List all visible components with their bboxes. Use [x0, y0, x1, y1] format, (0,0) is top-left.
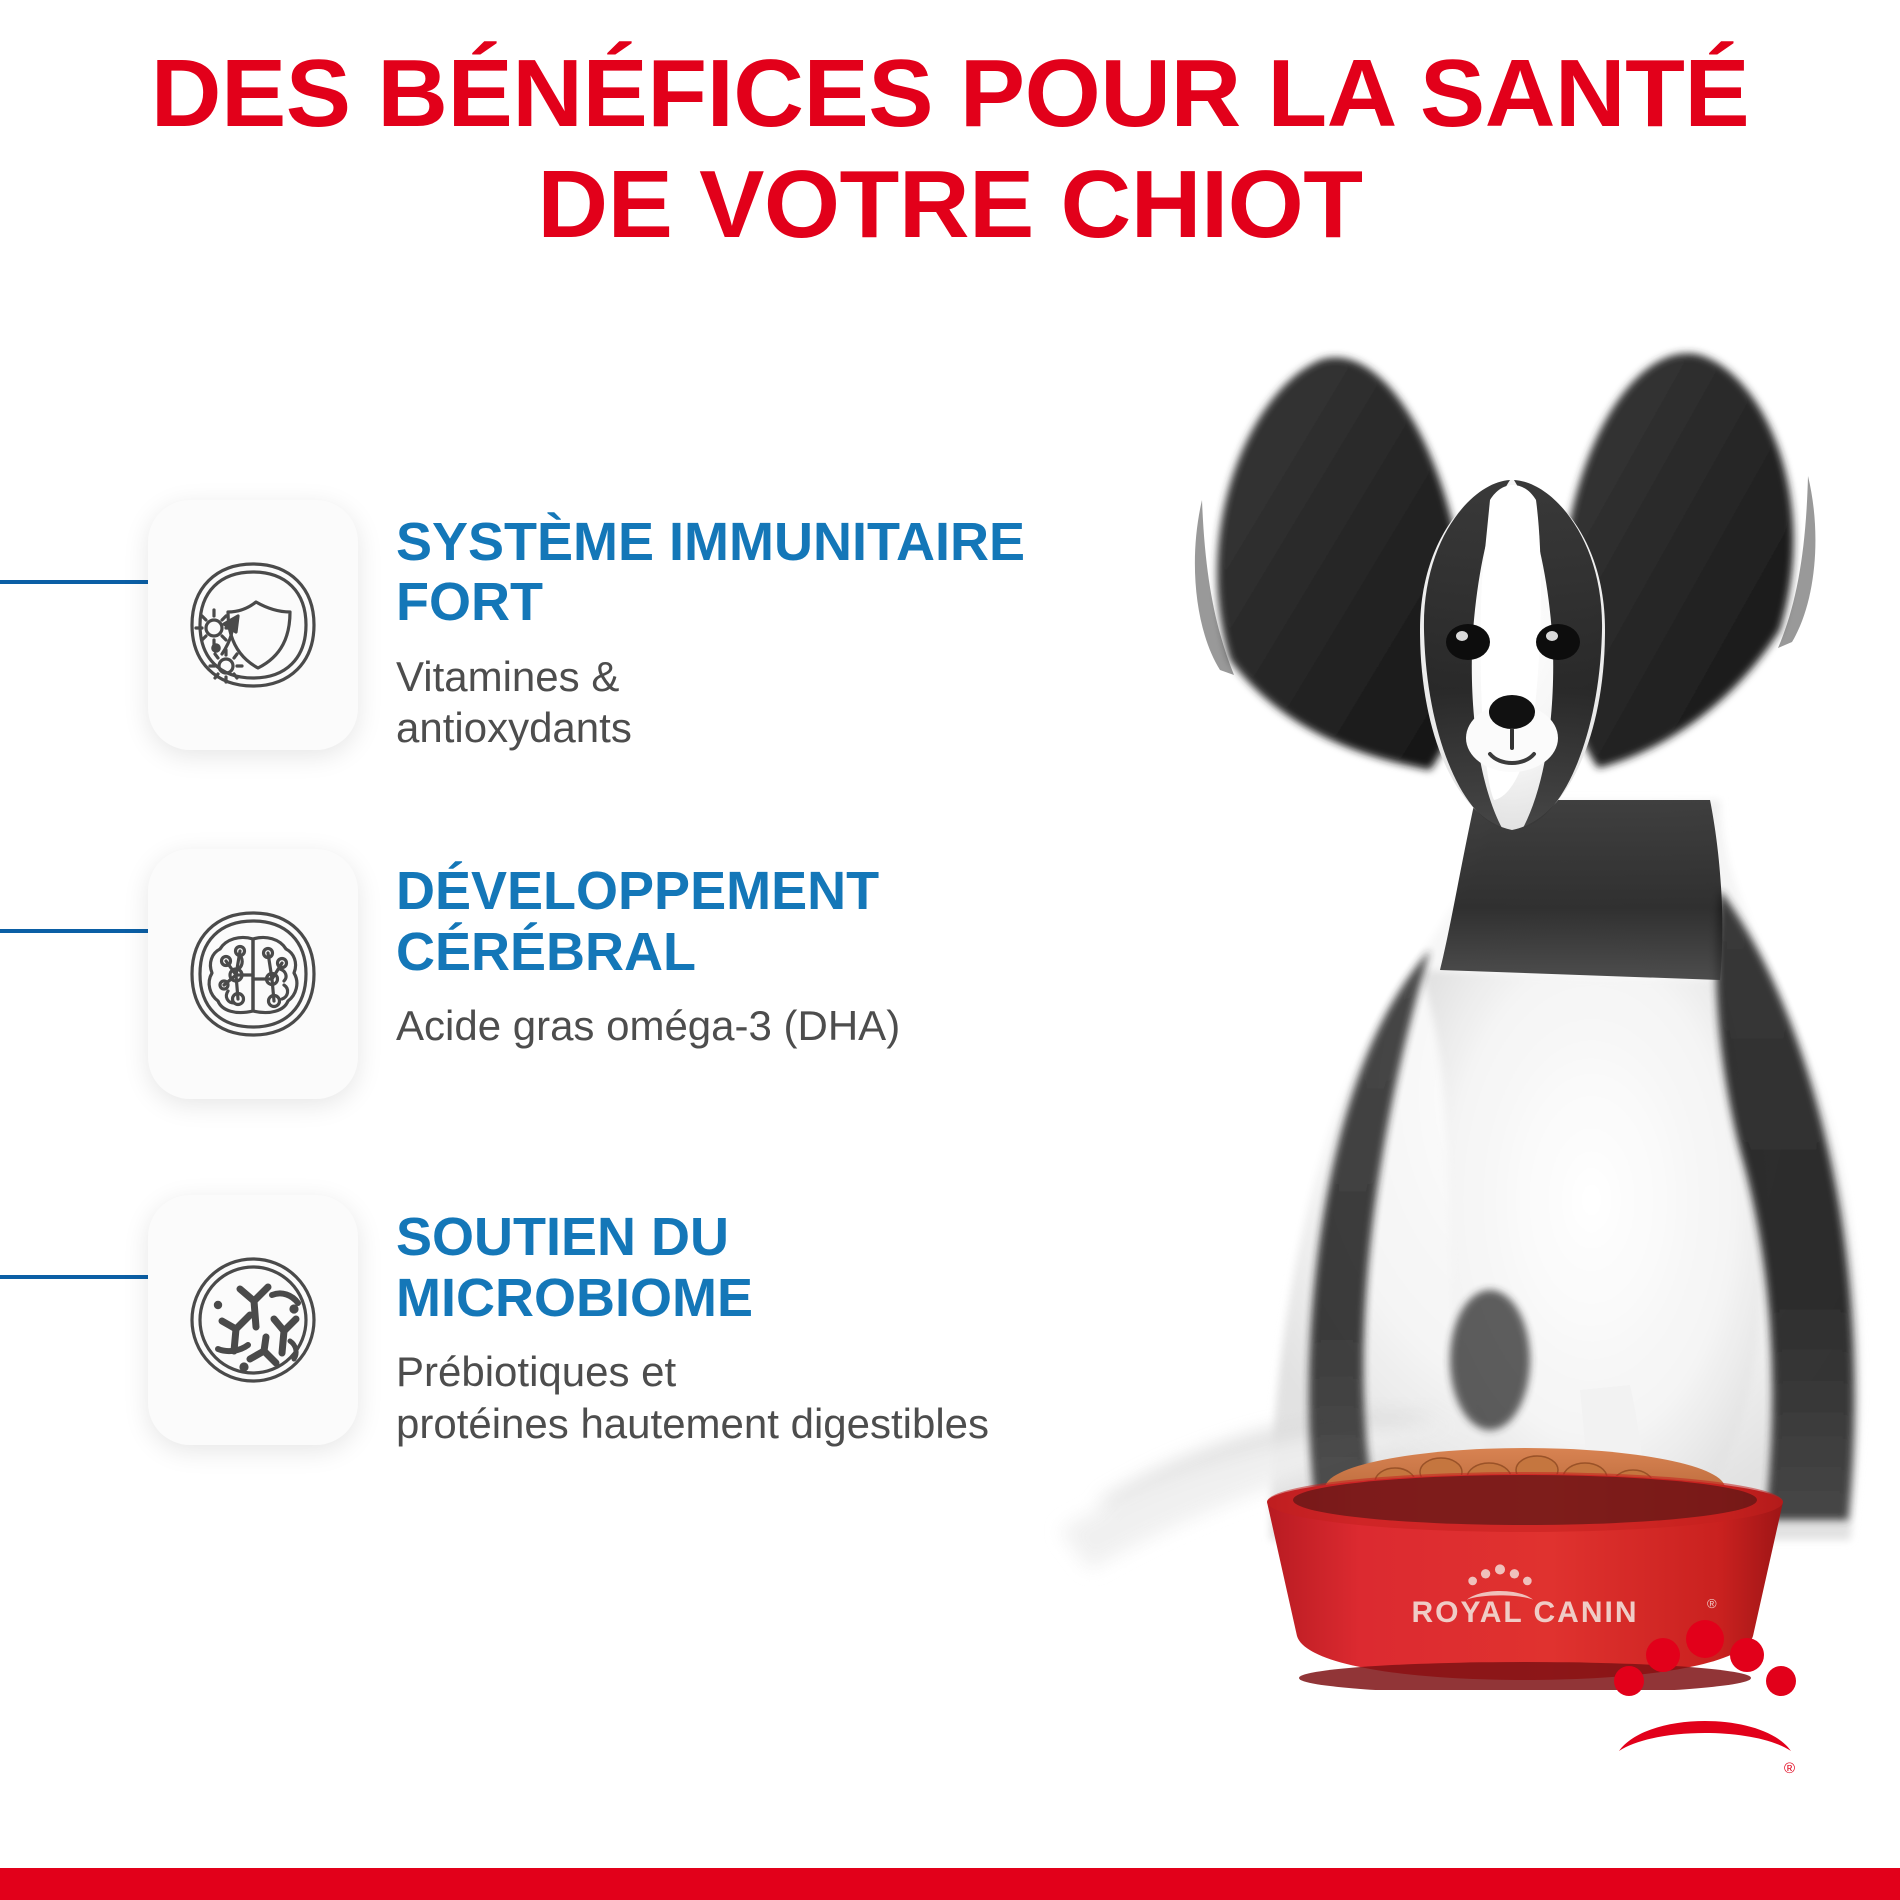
benefit-text-group: SOUTIEN DU MICROBIOME Prébiotiques et pr…	[396, 1195, 989, 1448]
benefit-title: SOUTIEN DU MICROBIOME	[396, 1207, 989, 1328]
benefit-title: SYSTÈME IMMUNITAIRE FORT	[396, 512, 1025, 633]
brain-development-icon	[178, 899, 328, 1049]
connector-line	[0, 929, 170, 933]
benefit-text-group: SYSTÈME IMMUNITAIRE FORT Vitamines & ant…	[396, 500, 1025, 753]
benefit-subtitle: Acide gras oméga-3 (DHA)	[396, 1000, 900, 1051]
headline-line-2: DE VOTRE CHIOT	[0, 149, 1900, 260]
benefit-icon-card	[148, 500, 358, 750]
microbiome-bacteria-icon	[178, 1245, 328, 1395]
benefit-item-microbiome[interactable]: SOUTIEN DU MICROBIOME Prébiotiques et pr…	[0, 1195, 1150, 1448]
connector-line	[0, 1275, 170, 1279]
benefit-text-group: DÉVELOPPEMENT CÉRÉBRAL Acide gras oméga-…	[396, 849, 900, 1051]
headline-line-1: DES BÉNÉFICES POUR LA SANTÉ	[0, 38, 1900, 149]
registered-mark: ®	[1784, 1760, 1795, 1777]
bottom-red-bar	[0, 1868, 1900, 1900]
benefit-icon-card	[148, 1195, 358, 1445]
benefit-icon-card	[148, 849, 358, 1099]
benefit-title: DÉVELOPPEMENT CÉRÉBRAL	[396, 861, 900, 982]
benefit-item-immune[interactable]: SYSTÈME IMMUNITAIRE FORT Vitamines & ant…	[0, 500, 1150, 753]
benefit-subtitle: Vitamines & antioxydants	[396, 651, 1025, 753]
poster-canvas: DES BÉNÉFICES POUR LA SANTÉ DE VOTRE CHI…	[0, 0, 1900, 1900]
benefits-list: SYSTÈME IMMUNITAIRE FORT Vitamines & ant…	[0, 500, 1150, 1545]
royal-canin-crown-logo: ®	[1605, 1605, 1805, 1785]
connector-line	[0, 580, 170, 584]
page-title: DES BÉNÉFICES POUR LA SANTÉ DE VOTRE CHI…	[0, 38, 1900, 261]
benefit-item-brain[interactable]: DÉVELOPPEMENT CÉRÉBRAL Acide gras oméga-…	[0, 849, 1150, 1099]
benefit-subtitle: Prébiotiques et protéines hautement dige…	[396, 1346, 989, 1448]
immune-shield-icon	[178, 550, 328, 700]
